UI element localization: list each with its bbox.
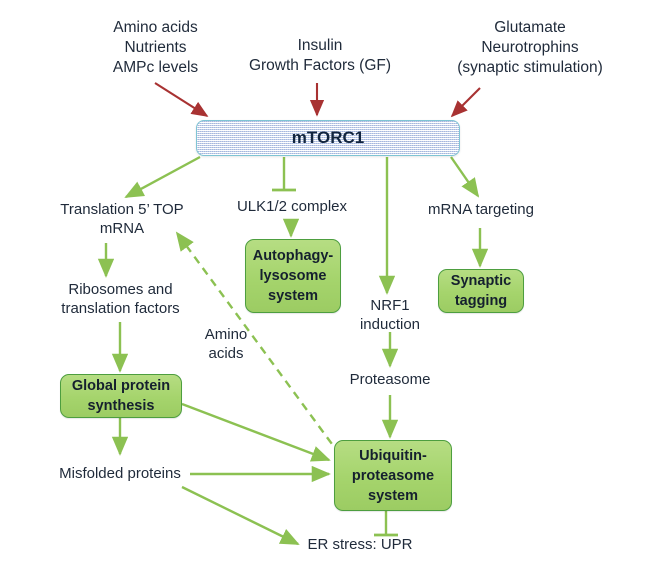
node-autophagy-lysosome-system[interactable]: Autophagy- lysosome system bbox=[245, 239, 341, 313]
node-ulk1-2-complex: ULK1/2 complex bbox=[228, 197, 356, 216]
edge-misfolded-to-er-stress bbox=[182, 487, 298, 544]
edge-amino-to-mtorc1 bbox=[155, 83, 207, 116]
node-mrna-targeting: mRNA targeting bbox=[418, 200, 544, 219]
stimulus-glutamate-neurotrophins: Glutamate Neurotrophins (synaptic stimul… bbox=[415, 18, 645, 78]
node-global-protein-synthesis[interactable]: Global protein synthesis bbox=[60, 374, 182, 418]
stimulus-amino-acids: Amino acids Nutrients AMPc levels bbox=[78, 18, 233, 78]
node-nrf1-induction: NRF1 induction bbox=[352, 296, 428, 334]
edge-mtorc1-to-mrna-targeting bbox=[451, 157, 478, 196]
node-er-stress-upr: ER stress: UPR bbox=[298, 535, 422, 554]
edge-glutamate-to-mtorc1 bbox=[452, 88, 480, 116]
node-mtorc1[interactable]: mTORC1 bbox=[196, 120, 460, 156]
node-translation-5p-top-mrna: Translation 5’ TOP mRNA bbox=[32, 200, 212, 238]
node-synaptic-tagging[interactable]: Synaptic tagging bbox=[438, 269, 524, 313]
stimulus-insulin-growth-factors: Insulin Growth Factors (GF) bbox=[225, 36, 415, 76]
edge-label-amino-acids: Amino acids bbox=[192, 325, 260, 363]
node-ribosomes-translation-factors: Ribosomes and translation factors bbox=[28, 280, 213, 318]
node-misfolded-proteins: Misfolded proteins bbox=[38, 464, 202, 483]
pathway-diagram: Amino acids Nutrients AMPc levels Insuli… bbox=[0, 0, 658, 575]
node-ubiquitin-proteasome-system[interactable]: Ubiquitin- proteasome system bbox=[334, 440, 452, 511]
node-proteasome: Proteasome bbox=[338, 370, 442, 389]
edge-mtorc1-to-translation bbox=[126, 157, 200, 197]
edge-global-protein-to-ubiquitin bbox=[182, 404, 329, 460]
